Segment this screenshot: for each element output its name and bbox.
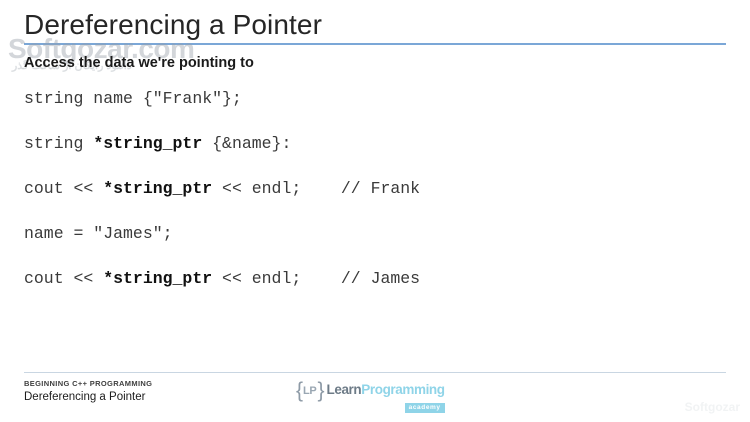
- logo-badge-academy: academy: [405, 403, 445, 413]
- logo-word-programming: Programming: [361, 382, 444, 397]
- code-line-3: cout << *string_ptr << endl; // Frank: [24, 178, 724, 200]
- code-block: string name {"Frank"}; string *string_pt…: [24, 88, 724, 290]
- watermark-bottom-right: Softgozar: [685, 400, 740, 414]
- code-segment: string: [24, 134, 93, 153]
- code-line-1: string name {"Frank"};: [24, 88, 724, 110]
- brand-logo: { LP } LearnProgramming academy: [296, 381, 445, 407]
- logo-brace-close-icon: }: [317, 381, 323, 401]
- footer-meta: BEGINNING C++ PROGRAMMING Dereferencing …: [24, 379, 152, 405]
- logo-wordmark-row: LearnProgramming: [327, 382, 445, 397]
- footer-course-name: BEGINNING C++ PROGRAMMING: [24, 379, 152, 388]
- logo-badge-wrap: academy: [405, 396, 445, 414]
- code-segment-emphasis: *string_ptr: [103, 179, 212, 198]
- logo-initials: LP: [302, 381, 317, 401]
- code-segment: cout <<: [24, 269, 103, 288]
- logo-word-learn: Learn: [327, 382, 362, 397]
- code-segment: name = "James";: [24, 224, 173, 243]
- code-line-5: cout << *string_ptr << endl; // James: [24, 268, 724, 290]
- page-subtitle: Access the data we're pointing to: [24, 53, 254, 73]
- code-segment: cout <<: [24, 179, 103, 198]
- code-segment: {&name}:: [202, 134, 291, 153]
- code-segment: << endl; // Frank: [212, 179, 420, 198]
- footer-divider: [24, 372, 726, 373]
- code-segment-emphasis: *string_ptr: [103, 269, 212, 288]
- logo-wordmark: LearnProgramming academy: [327, 381, 445, 414]
- code-segment-emphasis: *string_ptr: [93, 134, 202, 153]
- footer-topic-name: Dereferencing a Pointer: [24, 390, 152, 404]
- code-segment: string name {"Frank"};: [24, 89, 242, 108]
- code-line-2: string *string_ptr {&name}:: [24, 133, 724, 155]
- code-line-4: name = "James";: [24, 223, 724, 245]
- title-divider: [24, 43, 726, 45]
- code-segment: << endl; // James: [212, 269, 420, 288]
- page-title: Dereferencing a Pointer: [24, 8, 322, 42]
- slide-canvas: Dereferencing a Pointer Softgozar.com دا…: [0, 0, 750, 422]
